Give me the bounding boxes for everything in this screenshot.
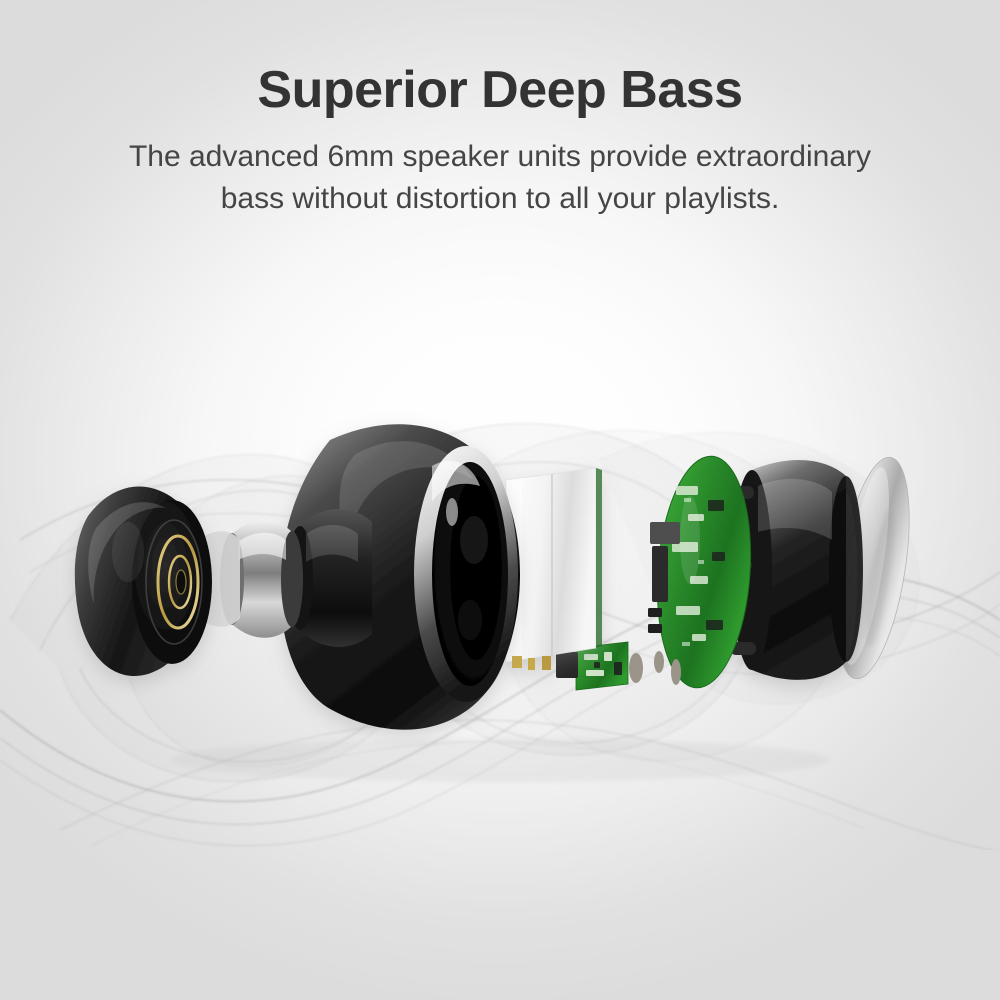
- page-subtitle: The advanced 6mm speaker units provide e…: [20, 118, 980, 219]
- product-image: [0, 290, 1000, 850]
- battery-module: [506, 468, 602, 670]
- battery-leads: [512, 656, 551, 670]
- ear-tip: [75, 486, 212, 676]
- subtitle-line-2: bass without distortion to all your play…: [20, 178, 980, 219]
- subtitle-line-1: The advanced 6mm speaker units provide e…: [20, 136, 980, 177]
- text-block: Superior Deep Bass The advanced 6mm spea…: [0, 0, 1000, 219]
- product-feature-banner: Superior Deep Bass The advanced 6mm spea…: [0, 0, 1000, 1000]
- product-shadow: [170, 738, 830, 782]
- page-title: Superior Deep Bass: [0, 0, 1000, 118]
